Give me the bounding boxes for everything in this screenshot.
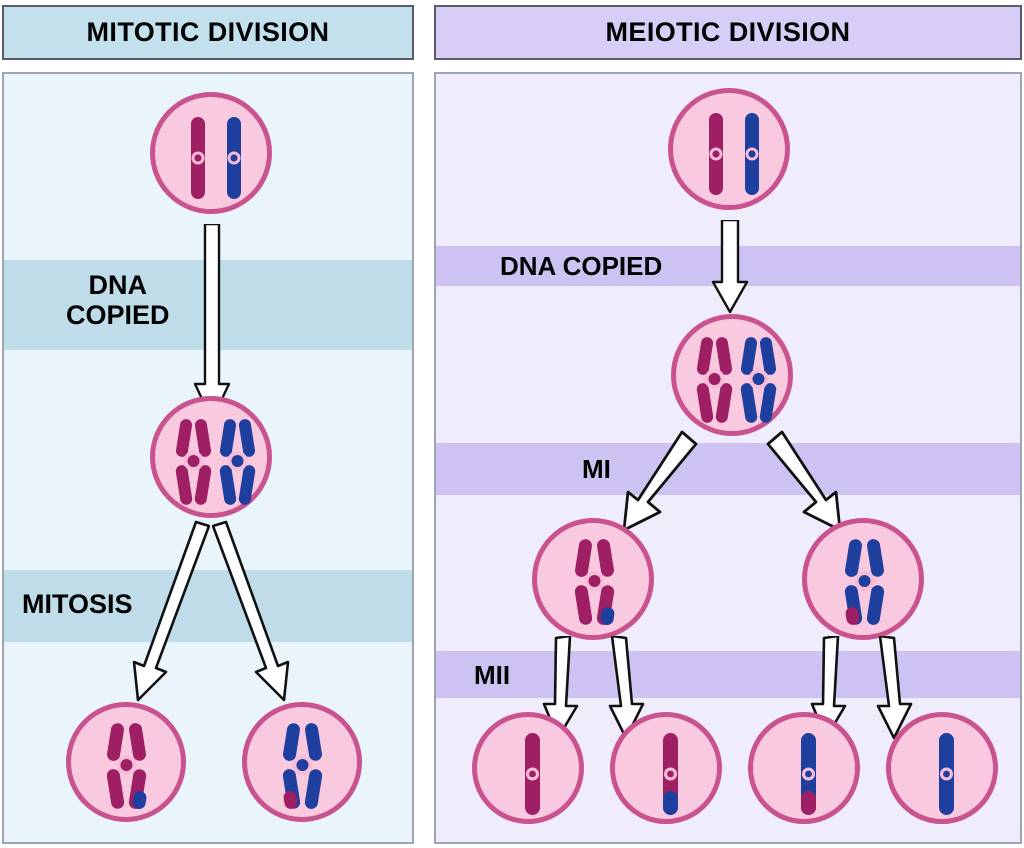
mitotic-division-header: MITOTIC DIVISION: [2, 5, 414, 60]
mitotic-division-panel: DNA COPIED MITOSIS: [2, 72, 414, 844]
chromosome-blue-rod-with-magenta-tip: [796, 731, 822, 817]
chromosome-pair-unreplicated: [701, 111, 767, 197]
chromosome-pair-unreplicated: [183, 115, 249, 201]
arrow-dna-replication: [192, 224, 232, 424]
chromosome-blue-with-magenta-tip: [841, 537, 893, 629]
mitosis-label-dna-copied: DNA COPIED: [66, 270, 170, 330]
meiosis-gamete-4: [886, 712, 998, 824]
mitotic-division-title: MITOTIC DIVISION: [87, 17, 330, 48]
mitosis-label-mitosis: MITOSIS: [22, 589, 133, 619]
meiosis-label-dna-copied: DNA COPIED: [500, 252, 662, 281]
meiosis-mi-cell-2: [802, 518, 924, 640]
chromosome-magenta-with-blue-tip: [571, 537, 623, 629]
meiosis-gamete-3: [748, 712, 860, 824]
chromosome-pair-replicated: [694, 335, 780, 425]
meiosis-parent-cell: [668, 88, 790, 210]
meiotic-division-header: MEIOTIC DIVISION: [434, 5, 1022, 60]
arrow-mitosis-left: [120, 518, 210, 708]
meiosis-gamete-2: [610, 712, 722, 824]
meiosis-band-mi: [436, 443, 1020, 495]
mitosis-replicated-cell: [150, 396, 272, 518]
chromosome-magenta-with-blue-tip: [103, 721, 155, 811]
meiosis-label-mii: MII: [474, 661, 510, 690]
arrow-mitosis-right: [212, 518, 302, 708]
meiosis-gamete-1: [472, 712, 584, 824]
mitosis-daughter-cell-2: [242, 702, 362, 822]
mitosis-daughter-cell-1: [66, 702, 186, 822]
mitosis-parent-cell: [150, 92, 272, 214]
meiosis-band-mii: [436, 651, 1020, 698]
chromosome-magenta-rod-with-blue-tip: [658, 731, 684, 817]
chromosome-magenta-rod: [520, 731, 546, 817]
arrow-meiosis-i-left: [608, 430, 698, 540]
meiosis-label-mi: MI: [582, 455, 611, 484]
meiotic-division-title: MEIOTIC DIVISION: [606, 17, 851, 48]
chromosome-blue-with-magenta-tip: [279, 721, 331, 811]
meiosis-mi-cell-1: [532, 518, 654, 640]
meiosis-replicated-cell: [671, 314, 793, 436]
division-comparison-figure: MITOTIC DIVISION DNA COPIED MITOSIS: [0, 0, 1024, 848]
chromosome-pair-replicated: [173, 417, 259, 507]
meiotic-division-panel: DNA COPIED MI MII: [434, 72, 1022, 844]
chromosome-blue-rod: [934, 731, 960, 817]
arrow-dna-replication: [710, 220, 750, 316]
